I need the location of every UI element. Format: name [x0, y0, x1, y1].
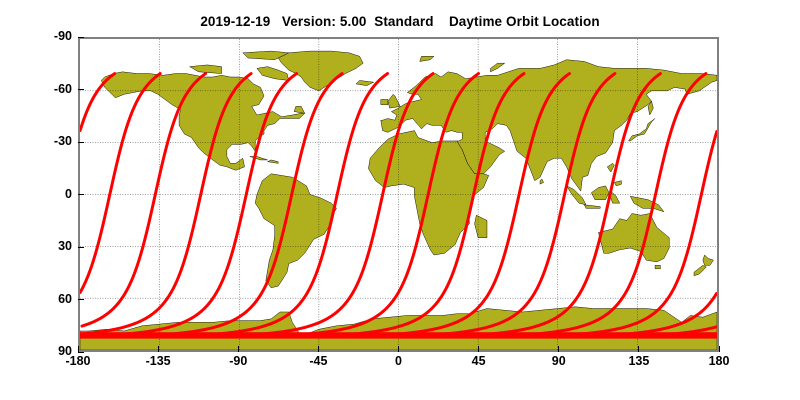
y-axis-tick-60: -60: [28, 82, 72, 96]
x-axis-tick-mark: [558, 346, 559, 352]
y-axis-tick-90: -90: [28, 29, 72, 43]
figure-title: 2019-12-19 Version: 5.00 Standard Daytim…: [0, 14, 800, 29]
x-axis-tick-neg90: -90: [208, 354, 268, 368]
y-axis-tick-30: -30: [28, 134, 72, 148]
y-axis-tick-neg30: 30: [28, 239, 72, 253]
x-axis-tick-45: 45: [449, 354, 509, 368]
x-axis-tick-180: 180: [689, 354, 749, 368]
y-axis-tick-neg60: 60: [28, 292, 72, 306]
map-plot-area: [78, 37, 719, 352]
y-axis-tick-mark: [78, 352, 84, 353]
orbit-location-figure: 2019-12-19 Version: 5.00 Standard Daytim…: [0, 0, 800, 400]
y-axis-tick-mark: [78, 299, 84, 300]
x-axis-tick-mark: [638, 346, 639, 352]
y-axis-tick-mark: [78, 37, 84, 38]
x-axis-tick-neg135: -135: [128, 354, 188, 368]
x-axis-tick-mark: [318, 346, 319, 352]
x-axis-tick-mark: [478, 346, 479, 352]
x-axis-tick-neg45: -45: [288, 354, 348, 368]
map-canvas: [80, 39, 717, 350]
x-axis-tick-135: 135: [609, 354, 669, 368]
x-axis-tick-mark: [158, 346, 159, 352]
x-axis-tick-mark: [398, 346, 399, 352]
x-axis-tick-90: 90: [529, 354, 589, 368]
y-axis-tick-mark: [78, 89, 84, 90]
x-axis-tick-0: 0: [369, 354, 429, 368]
y-axis-tick-mark: [78, 247, 84, 248]
orbit-ground-tracks: [80, 39, 717, 350]
x-axis-tick-mark: [238, 346, 239, 352]
x-axis-tick-mark: [78, 346, 79, 352]
x-axis-tick-neg180: -180: [48, 354, 108, 368]
y-axis-tick-mark: [78, 142, 84, 143]
x-axis-tick-mark: [719, 346, 720, 352]
y-axis-tick-0: 0: [28, 187, 72, 201]
y-axis-tick-mark: [78, 194, 84, 195]
